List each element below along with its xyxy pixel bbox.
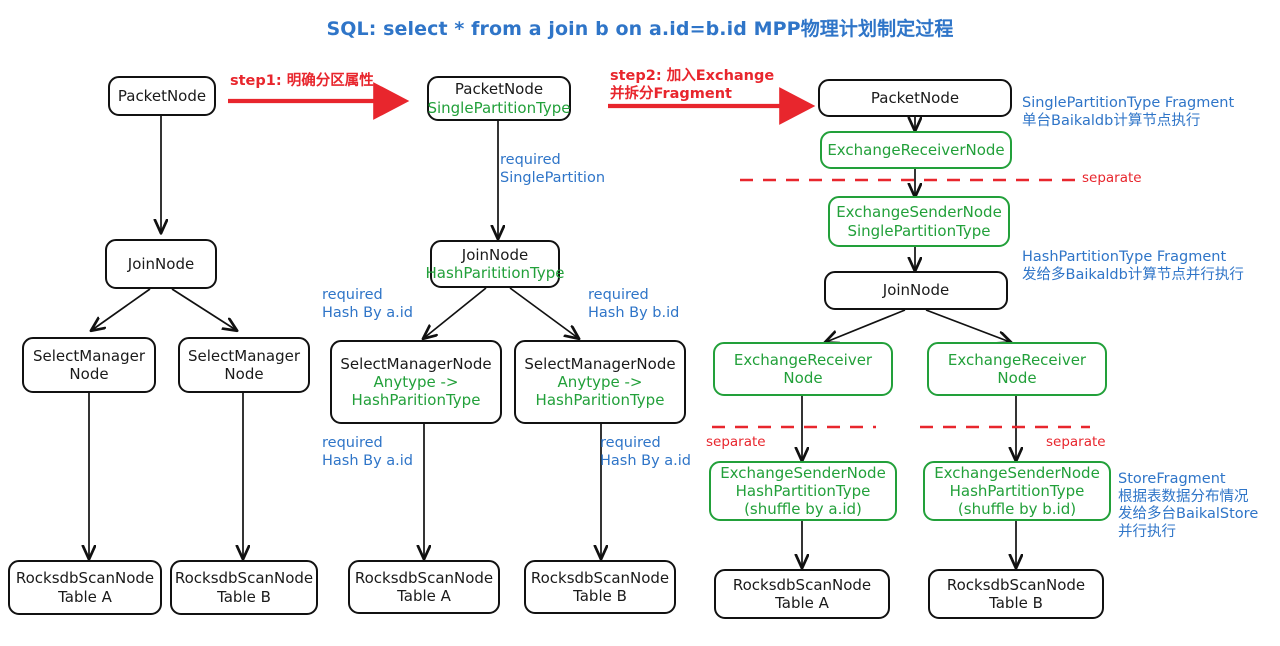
edge-label-line1: required bbox=[322, 435, 413, 453]
node-exchangereceiver-left-stage3[interactable]: ExchangeReceiver Node bbox=[713, 342, 893, 396]
edge-label-required-hash-a-right: required Hash By a.id bbox=[600, 435, 691, 470]
annotation-line1: StoreFragment bbox=[1118, 471, 1258, 489]
edge-label-line2: Hash By a.id bbox=[322, 305, 413, 323]
node-exchangesender-right-stage3[interactable]: ExchangeSenderNode HashPartitionType (sh… bbox=[923, 461, 1111, 521]
node-rocksdbscan-a-stage2[interactable]: RocksdbScanNode Table A bbox=[348, 560, 500, 614]
node-label-line1: ExchangeSenderNode bbox=[720, 464, 886, 482]
node-label: JoinNode bbox=[883, 281, 949, 299]
node-packetnode-stage2[interactable]: PacketNode SinglePartitionType bbox=[427, 76, 571, 121]
node-packetnode-stage3[interactable]: PacketNode bbox=[818, 79, 1012, 117]
step2-label-line2: 并拆分Fragment bbox=[610, 86, 774, 104]
annotation-single-partition-fragment: SinglePartitionType Fragment 单台Baikaldb计… bbox=[1022, 95, 1234, 130]
node-label-line2: HashParititionType bbox=[426, 264, 565, 282]
node-label-line1: ExchangeSenderNode bbox=[934, 464, 1100, 482]
node-selectmanager-right-stage1[interactable]: SelectManager Node bbox=[178, 337, 310, 393]
node-label-line2: HashPartitionType bbox=[950, 482, 1085, 500]
node-label-line1: RocksdbScanNode bbox=[531, 569, 669, 587]
node-label-line2: Table B bbox=[217, 588, 271, 606]
edge-label-required-hash-a-top: required Hash By a.id bbox=[322, 287, 413, 322]
node-label: JoinNode bbox=[128, 255, 194, 273]
node-selectmanager-left-stage1[interactable]: SelectManager Node bbox=[22, 337, 156, 393]
step2-label-line1: step2: 加入Exchange bbox=[610, 68, 774, 86]
edge-label-line1: required bbox=[600, 435, 691, 453]
node-label-line2: Node bbox=[997, 369, 1036, 387]
node-rocksdbscan-b-stage2[interactable]: RocksdbScanNode Table B bbox=[524, 560, 676, 614]
node-label-line2: HashPartitionType bbox=[736, 482, 871, 500]
annotation-line4: 并行执行 bbox=[1118, 524, 1258, 542]
node-label-line1: RocksdbScanNode bbox=[733, 576, 871, 594]
node-label-line1: RocksdbScanNode bbox=[16, 569, 154, 587]
edge-label-required-hash-b-top: required Hash By b.id bbox=[588, 287, 679, 322]
node-label-line1: RocksdbScanNode bbox=[355, 569, 493, 587]
annotation-line1: SinglePartitionType Fragment bbox=[1022, 95, 1234, 113]
node-label-line3: (shuffle by b.id) bbox=[958, 500, 1076, 518]
node-label-line2: Table A bbox=[397, 587, 451, 605]
node-exchangereceiver-right-stage3[interactable]: ExchangeReceiver Node bbox=[927, 342, 1107, 396]
node-selectmanager-left-stage2[interactable]: SelectManagerNode Anytype -> HashParitio… bbox=[330, 340, 502, 424]
node-label-line2: Node bbox=[224, 365, 263, 383]
edge-label-line2: Hash By a.id bbox=[322, 453, 413, 471]
node-label-line2: SinglePartitionType bbox=[427, 99, 570, 117]
node-label-line1: ExchangeReceiver bbox=[734, 351, 872, 369]
node-joinnode-stage3[interactable]: JoinNode bbox=[824, 271, 1008, 310]
edge-label-line1: required bbox=[588, 287, 679, 305]
node-label-line2: Table A bbox=[58, 588, 112, 606]
edge-label-required-singlepartition: required SinglePartition bbox=[500, 152, 605, 187]
step1-label-text: step1: 明确分区属性 bbox=[230, 73, 374, 89]
node-label-line1: SelectManager bbox=[33, 347, 145, 365]
node-joinnode-stage2[interactable]: JoinNode HashParititionType bbox=[430, 240, 560, 288]
node-label-line2: Table B bbox=[573, 587, 627, 605]
separate-label-right: separate bbox=[1046, 434, 1106, 450]
diagram-canvas: SQL: select * from a join b on a.id=b.id… bbox=[0, 0, 1280, 646]
edge-label-required-hash-a-left: required Hash By a.id bbox=[322, 435, 413, 470]
node-label-line2: SinglePartitionType bbox=[847, 222, 990, 240]
separate-label-top: separate bbox=[1082, 170, 1142, 186]
node-exchangesender-left-stage3[interactable]: ExchangeSenderNode HashPartitionType (sh… bbox=[709, 461, 897, 521]
annotation-line2: 根据表数据分布情况 bbox=[1118, 489, 1258, 507]
node-label-line1: PacketNode bbox=[455, 80, 543, 98]
annotation-line1: HashPartitionType Fragment bbox=[1022, 249, 1244, 267]
node-rocksdbscan-b-stage1[interactable]: RocksdbScanNode Table B bbox=[170, 560, 318, 615]
node-label-line1: SelectManager bbox=[188, 347, 300, 365]
page-title: SQL: select * from a join b on a.id=b.id… bbox=[0, 14, 1280, 41]
node-label: ExchangeReceiverNode bbox=[827, 141, 1004, 159]
node-label-line2: Table B bbox=[989, 594, 1043, 612]
step1-label: step1: 明确分区属性 bbox=[230, 73, 374, 91]
annotation-line2: 发给多Baikaldb计算节点并行执行 bbox=[1022, 267, 1244, 285]
edge-label-line1: required bbox=[500, 152, 605, 170]
separate-label-left: separate bbox=[706, 434, 766, 450]
node-label-line1: ExchangeReceiver bbox=[948, 351, 1086, 369]
annotation-line3: 发给多台BaikalStore bbox=[1118, 506, 1258, 524]
node-exchangesender-top-stage3[interactable]: ExchangeSenderNode SinglePartitionType bbox=[828, 196, 1010, 247]
node-label-line2: Anytype -> bbox=[558, 373, 643, 391]
node-rocksdbscan-a-stage3[interactable]: RocksdbScanNode Table A bbox=[714, 569, 890, 619]
node-label-line1: ExchangeSenderNode bbox=[836, 203, 1002, 221]
node-label-line3: HashParitionType bbox=[536, 391, 665, 409]
node-label-line2: Node bbox=[69, 365, 108, 383]
node-label-line1: RocksdbScanNode bbox=[947, 576, 1085, 594]
node-label-line2: Node bbox=[783, 369, 822, 387]
node-exchangereceiver-top-stage3[interactable]: ExchangeReceiverNode bbox=[820, 131, 1012, 169]
node-packetnode-stage1[interactable]: PacketNode bbox=[108, 76, 216, 116]
edge-label-line2: Hash By a.id bbox=[600, 453, 691, 471]
node-label-line2: Table A bbox=[775, 594, 829, 612]
node-joinnode-stage1[interactable]: JoinNode bbox=[105, 239, 217, 289]
edge-label-line2: SinglePartition bbox=[500, 170, 605, 188]
node-label-line1: JoinNode bbox=[462, 246, 528, 264]
node-label: PacketNode bbox=[118, 87, 206, 105]
node-label-line1: SelectManagerNode bbox=[524, 355, 675, 373]
edge-label-line1: required bbox=[322, 287, 413, 305]
annotation-store-fragment: StoreFragment 根据表数据分布情况 发给多台BaikalStore … bbox=[1118, 471, 1258, 542]
node-label-line1: SelectManagerNode bbox=[340, 355, 491, 373]
node-label: PacketNode bbox=[871, 89, 959, 107]
node-rocksdbscan-b-stage3[interactable]: RocksdbScanNode Table B bbox=[928, 569, 1104, 619]
node-label-line2: Anytype -> bbox=[374, 373, 459, 391]
node-rocksdbscan-a-stage1[interactable]: RocksdbScanNode Table A bbox=[8, 560, 162, 615]
annotation-hash-partition-fragment: HashPartitionType Fragment 发给多Baikaldb计算… bbox=[1022, 249, 1244, 284]
step2-label: step2: 加入Exchange 并拆分Fragment bbox=[610, 68, 774, 103]
edge-label-line2: Hash By b.id bbox=[588, 305, 679, 323]
node-label-line3: (shuffle by a.id) bbox=[744, 500, 862, 518]
annotation-line2: 单台Baikaldb计算节点执行 bbox=[1022, 113, 1234, 131]
node-label-line1: RocksdbScanNode bbox=[175, 569, 313, 587]
node-label-line3: HashParitionType bbox=[352, 391, 481, 409]
node-selectmanager-right-stage2[interactable]: SelectManagerNode Anytype -> HashParitio… bbox=[514, 340, 686, 424]
